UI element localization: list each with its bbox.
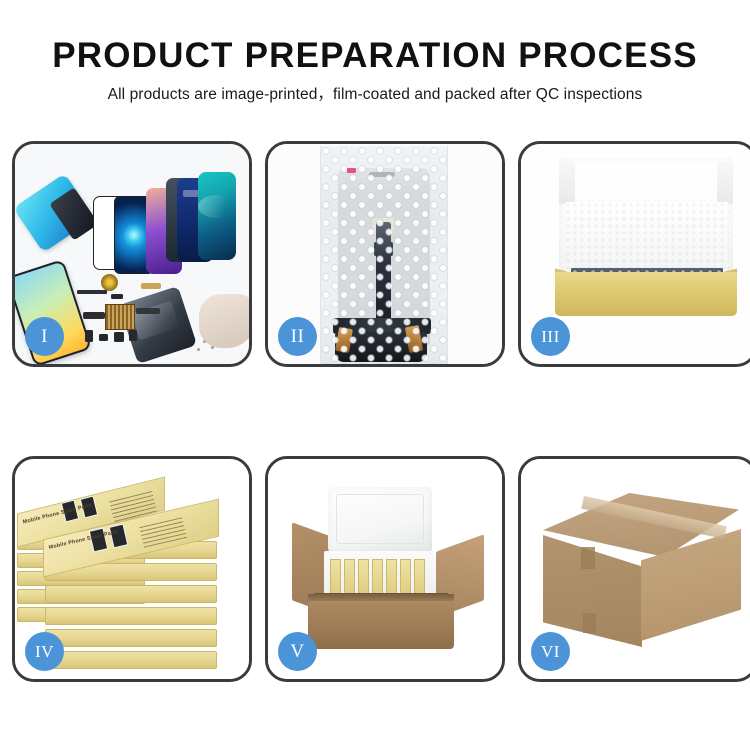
step-card-1[interactable]: I <box>12 141 252 367</box>
bubble-texture-overlay <box>321 146 447 364</box>
front-box-5 <box>45 629 217 647</box>
step-badge-5: V <box>278 632 317 671</box>
speaker-mesh-part <box>77 290 107 294</box>
page-header: PRODUCT PREPARATION PROCESS All products… <box>0 36 750 105</box>
gold-connector-part <box>141 283 161 289</box>
foam-box-lid-open <box>328 487 432 553</box>
kraft-tray-front <box>555 272 737 316</box>
front-box-4 <box>45 607 217 625</box>
logic-board-chip <box>105 304 135 330</box>
screw-part-c <box>197 348 200 351</box>
technician-hand <box>199 294 249 348</box>
flex-cable-part-b <box>136 308 160 314</box>
camera-module-part <box>114 332 124 342</box>
carton-seam-top <box>581 547 595 569</box>
vibration-motor-part <box>101 274 118 291</box>
step-badge-6: VI <box>531 632 570 671</box>
small-bracket-part-a <box>99 334 108 341</box>
carton-seam-bottom <box>583 613 596 633</box>
step-badge-3: III <box>531 317 570 356</box>
step-card-4[interactable]: Mobile Phone Spare Parts Mobile Phone Sp… <box>12 456 252 682</box>
product-preparation-process-page: PRODUCT PREPARATION PROCESS All products… <box>0 0 750 750</box>
step-badge-4: IV <box>25 632 64 671</box>
page-subtitle: All products are image-printed，film-coat… <box>0 85 750 105</box>
pink-qc-sticker <box>347 168 356 173</box>
process-step-grid: I II <box>12 141 738 682</box>
step-card-3[interactable]: III <box>518 141 750 367</box>
front-box-3 <box>45 585 217 603</box>
box-lid-flap-left <box>559 162 575 204</box>
step-card-6[interactable]: VI <box>518 456 750 682</box>
small-bracket-part-b <box>129 330 137 341</box>
front-box-6 <box>45 651 217 669</box>
antenna-part <box>111 294 123 299</box>
bubble-wrap-bag <box>320 146 448 364</box>
phone-screen-teal <box>198 172 236 260</box>
step-badge-2: II <box>278 317 317 356</box>
carton-front-face <box>308 599 454 649</box>
box-lid-flap-right <box>717 162 733 204</box>
step-card-5[interactable]: V <box>265 456 505 682</box>
step-badge-1: I <box>25 317 64 356</box>
flex-cable-part-a <box>83 312 105 319</box>
step-card-2[interactable]: II <box>265 141 505 367</box>
sim-tray-part <box>85 330 93 342</box>
page-title: PRODUCT PREPARATION PROCESS <box>0 36 750 76</box>
